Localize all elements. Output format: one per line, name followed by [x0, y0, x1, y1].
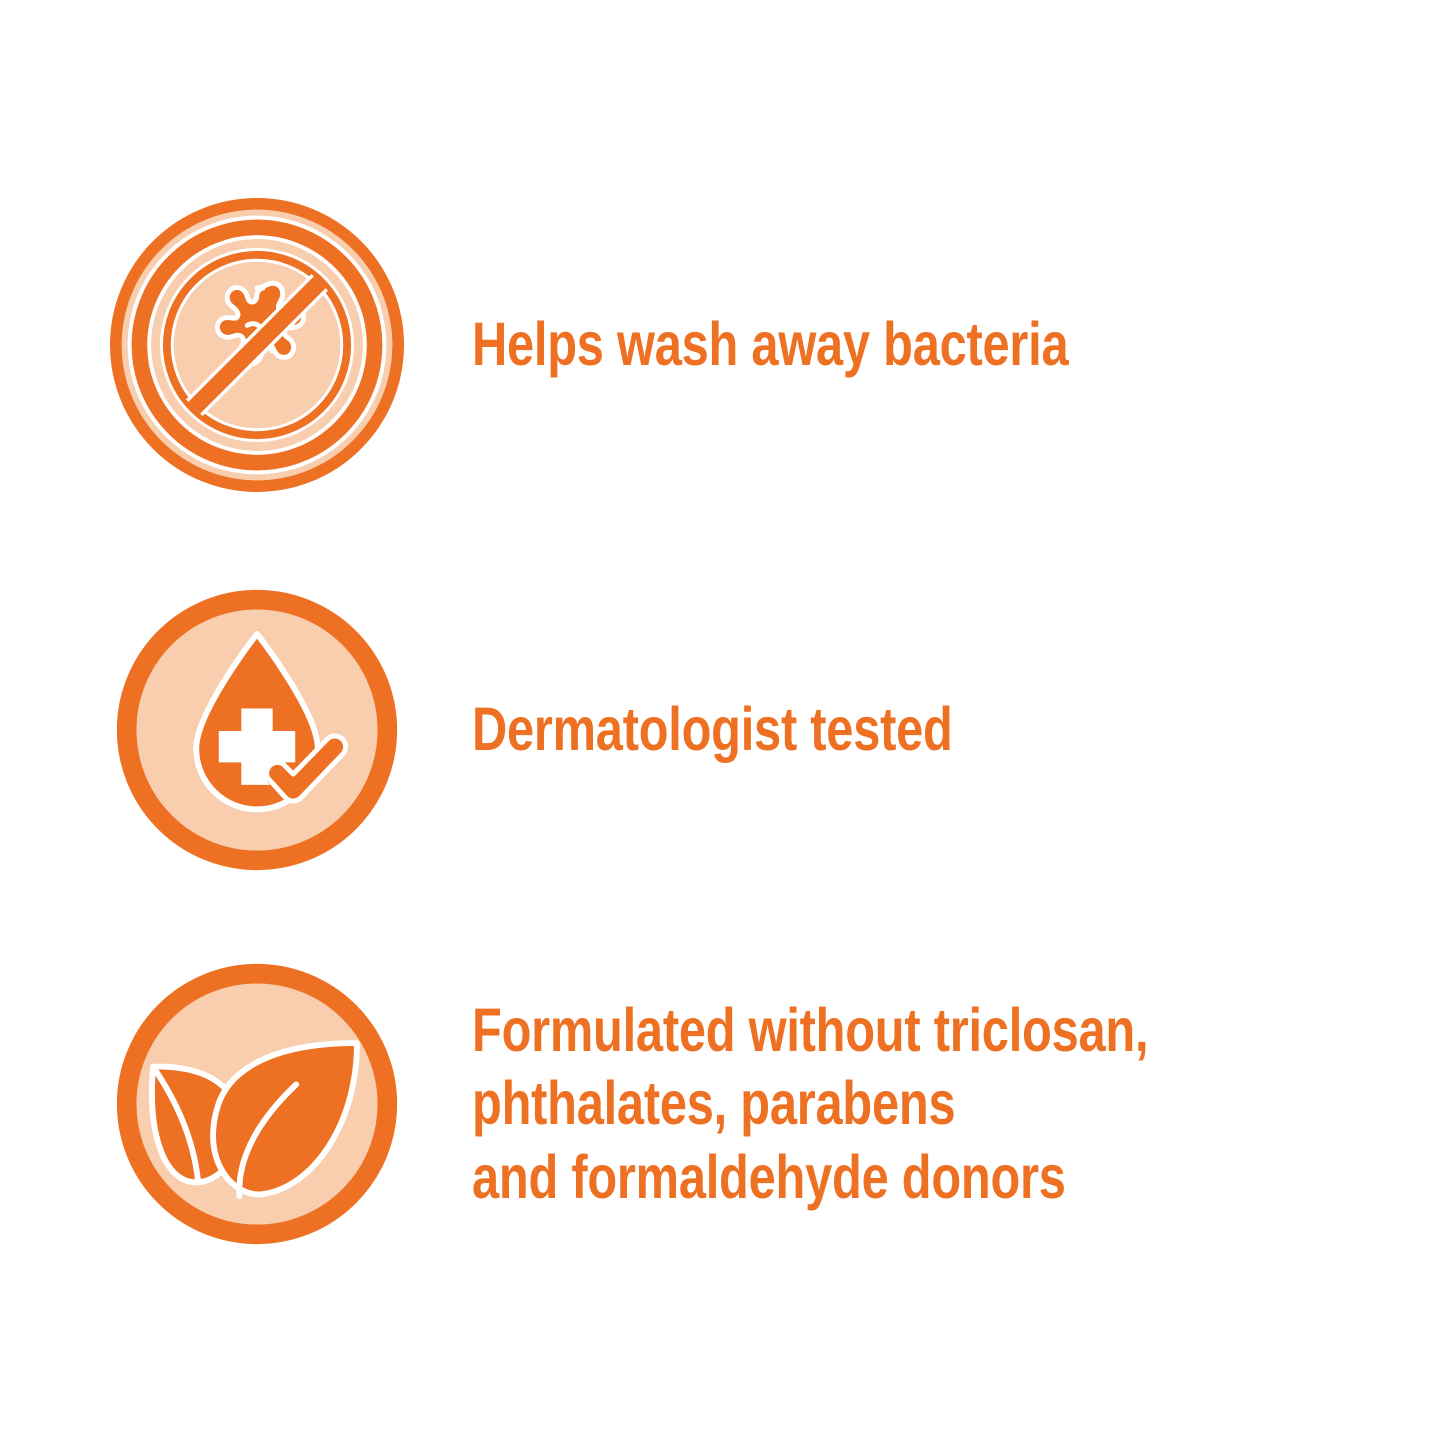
dermatologist-tested-icon — [110, 583, 404, 877]
feature-label-dermatologist: Dermatologist tested — [472, 694, 953, 766]
feature-row-formulated-without: Formulated without triclosan, phthalates… — [110, 957, 1317, 1251]
feature-row-dermatologist: Dermatologist tested — [110, 583, 1073, 877]
feature-label-formulated-without: Formulated without triclosan, phthalates… — [472, 994, 1148, 1214]
feature-row-bacteria: Helps wash away bacteria — [110, 198, 1218, 492]
natural-leaves-icon — [110, 957, 404, 1251]
feature-label-bacteria: Helps wash away bacteria — [472, 309, 1068, 381]
no-bacteria-icon — [110, 198, 404, 492]
feature-callout-panel: Helps wash away bacteria Dermat — [0, 0, 1445, 1445]
